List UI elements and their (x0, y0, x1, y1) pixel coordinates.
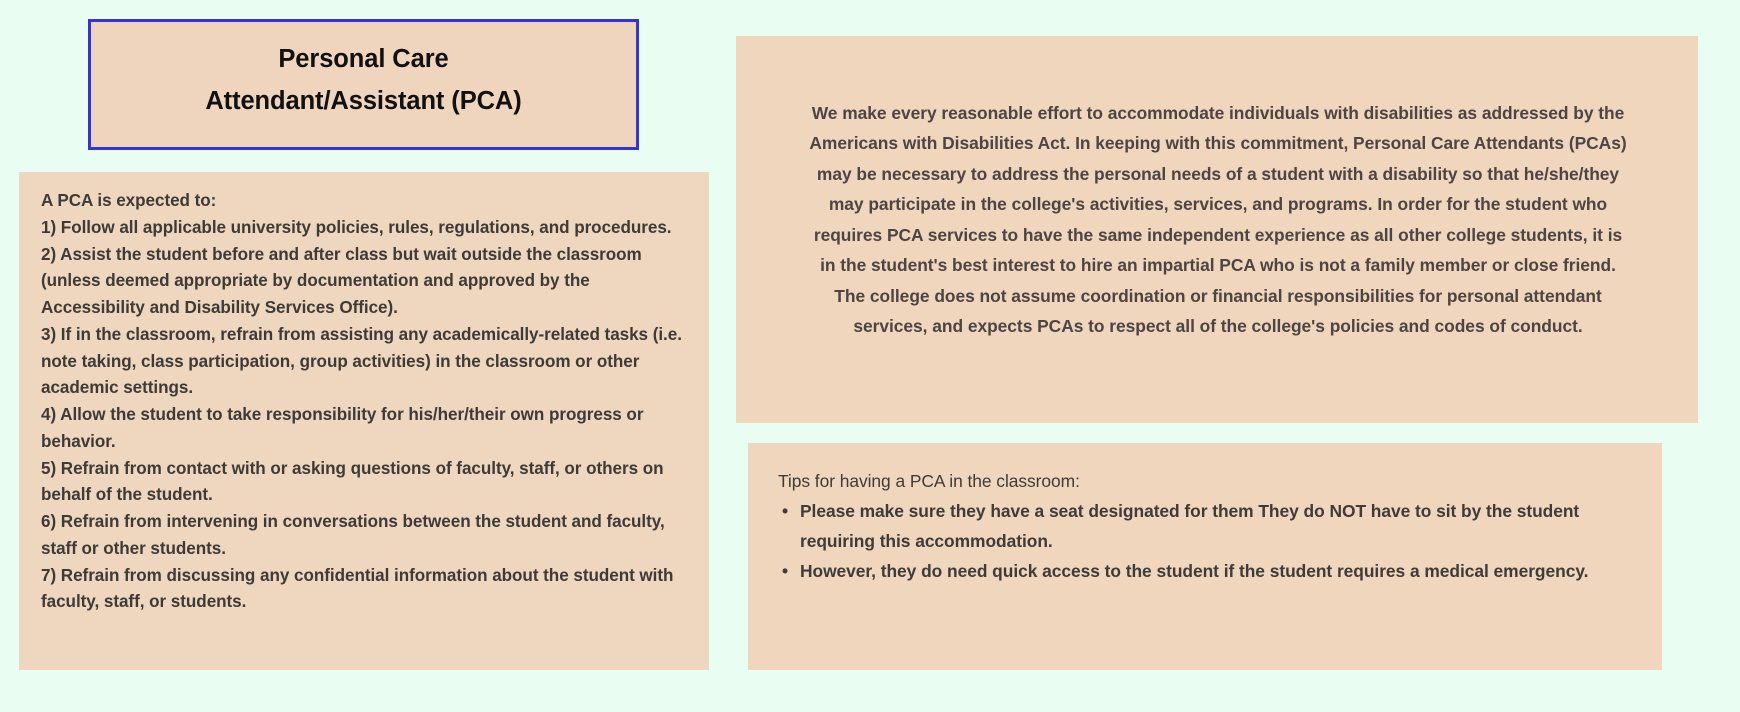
responsibility-line: academic settings. (41, 375, 689, 402)
tips-list-item: • Please make sure they have a seat desi… (778, 497, 1636, 557)
statement-line: may be necessary to address the personal… (766, 159, 1670, 189)
statement-line: Americans with Disabilities Act. In keep… (766, 128, 1670, 158)
statement-line: in the student's best interest to hire a… (766, 250, 1670, 280)
bullet-icon: • (782, 557, 788, 587)
statement-line: The college does not assume coordination… (766, 281, 1670, 311)
title-line-2: Attendant/Assistant (PCA) (205, 81, 521, 122)
responsibility-line: note taking, class participation, group … (41, 349, 689, 376)
title-card: Personal Care Attendant/Assistant (PCA) (88, 19, 639, 150)
tips-list-item: • However, they do need quick access to … (778, 557, 1636, 587)
ada-statement-panel: We make every reasonable effort to accom… (736, 36, 1698, 423)
responsibility-line: 4) Allow the student to take responsibil… (41, 402, 689, 429)
responsibility-line: Accessibility and Disability Services Of… (41, 295, 689, 322)
pca-responsibilities-panel: A PCA is expected to: 1) Follow all appl… (19, 172, 709, 670)
tips-panel: Tips for having a PCA in the classroom: … (748, 443, 1662, 670)
responsibility-line: 2) Assist the student before and after c… (41, 242, 689, 269)
title-line-1: Personal Care (278, 39, 448, 80)
responsibility-line: staff or other students. (41, 536, 689, 563)
statement-line: We make every reasonable effort to accom… (766, 98, 1670, 128)
tips-list: • Please make sure they have a seat desi… (778, 497, 1636, 587)
responsibility-line: 6) Refrain from intervening in conversat… (41, 509, 689, 536)
responsibility-line: behalf of the student. (41, 482, 689, 509)
responsibility-line: 3) If in the classroom, refrain from ass… (41, 322, 689, 349)
responsibility-line: 7) Refrain from discussing any confident… (41, 563, 689, 590)
responsibility-line: faculty, staff, or students. (41, 589, 689, 616)
responsibility-line: (unless deemed appropriate by documentat… (41, 268, 689, 295)
statement-line: services, and expects PCAs to respect al… (766, 311, 1670, 341)
tips-heading: Tips for having a PCA in the classroom: (778, 467, 1636, 497)
responsibility-line: behavior. (41, 429, 689, 456)
statement-line: requires PCA services to have the same i… (766, 220, 1670, 250)
tips-list-item-text: Please make sure they have a seat design… (800, 501, 1579, 551)
bullet-icon: • (782, 497, 788, 527)
tips-list-item-text: However, they do need quick access to th… (800, 561, 1588, 581)
statement-line: may participate in the college's activit… (766, 189, 1670, 219)
responsibility-line: 1) Follow all applicable university poli… (41, 215, 689, 242)
slide-canvas: Personal Care Attendant/Assistant (PCA) … (0, 0, 1740, 712)
responsibility-line: 5) Refrain from contact with or asking q… (41, 456, 689, 483)
responsibilities-heading: A PCA is expected to: (41, 188, 689, 215)
